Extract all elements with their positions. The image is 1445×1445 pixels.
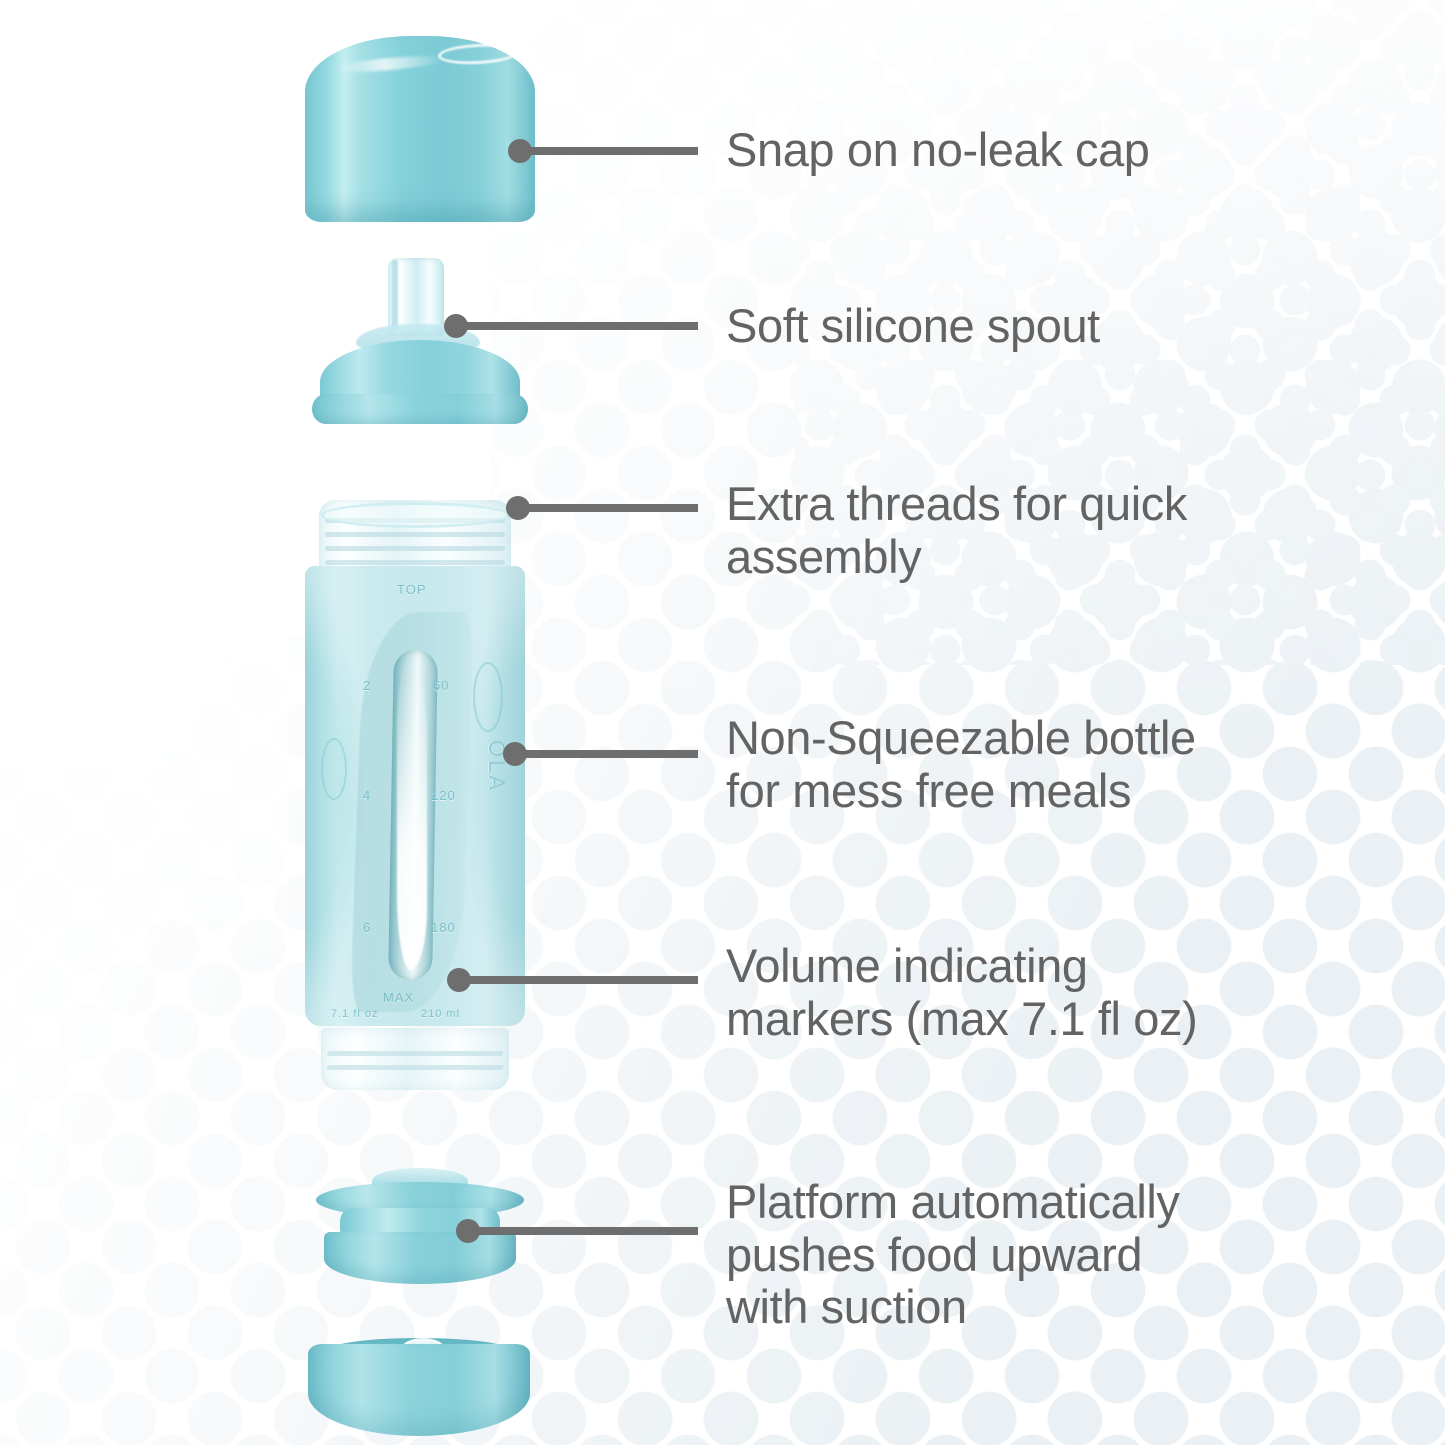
leader-line-cap (508, 139, 698, 163)
bottle-thread-4 (325, 560, 505, 565)
base-cap-body (308, 1344, 530, 1436)
product-part-bottle: OLA TOP 2 60 4 120 6 180 MAX 7.1 fl oz 2… (305, 500, 525, 1090)
leader-line-threads (506, 496, 698, 520)
callout-label-platform: Platform automatically pushes food upwar… (726, 1176, 1180, 1334)
leader-line-bottle (503, 742, 698, 766)
leader-stem-bottle (521, 750, 698, 758)
leader-stem-cap (526, 147, 698, 155)
leader-line-volume (447, 968, 698, 992)
callout-label-volume: Volume indicating markers (max 7.1 fl oz… (726, 940, 1197, 1045)
spout-base-ring (312, 394, 528, 424)
sleeve-side-oval-right (473, 662, 503, 732)
callout-label-threads: Extra threads for quick assembly (726, 478, 1187, 583)
leader-line-spout (444, 314, 698, 338)
product-part-snap-on-cap (305, 22, 535, 222)
product-part-base-cap (308, 1338, 530, 1445)
polka-dot-background (0, 0, 1445, 1445)
leader-stem-platform (474, 1227, 698, 1235)
infographic-canvas: OLA TOP 2 60 4 120 6 180 MAX 7.1 fl oz 2… (0, 0, 1445, 1445)
sleeve-side-oval-left (321, 738, 347, 800)
leader-stem-volume (465, 976, 698, 984)
callout-label-spout: Soft silicone spout (726, 300, 1100, 353)
background-white-left (0, 549, 289, 983)
bottle-base-ring-1 (327, 1051, 503, 1056)
product-part-silicone-spout (300, 258, 540, 433)
callout-label-bottle: Non-Squeezable bottle for mess free meal… (726, 712, 1196, 817)
leader-stem-spout (462, 322, 698, 330)
bottle-thread-3 (325, 546, 505, 551)
bottle-window-shine (397, 660, 427, 970)
bottle-mouth-opening (321, 502, 509, 528)
leader-line-platform (456, 1219, 698, 1243)
cap-bottom-rim (307, 200, 533, 222)
background-fade-overlay (0, 0, 1445, 1445)
callout-label-cap: Snap on no-leak cap (726, 124, 1150, 177)
leader-stem-threads (524, 504, 698, 512)
bottle-base-ring-2 (327, 1065, 503, 1070)
bottle-clear-base (321, 1028, 509, 1090)
spout-nozzle-edge (392, 260, 398, 330)
bottle-thread-2 (325, 532, 505, 537)
